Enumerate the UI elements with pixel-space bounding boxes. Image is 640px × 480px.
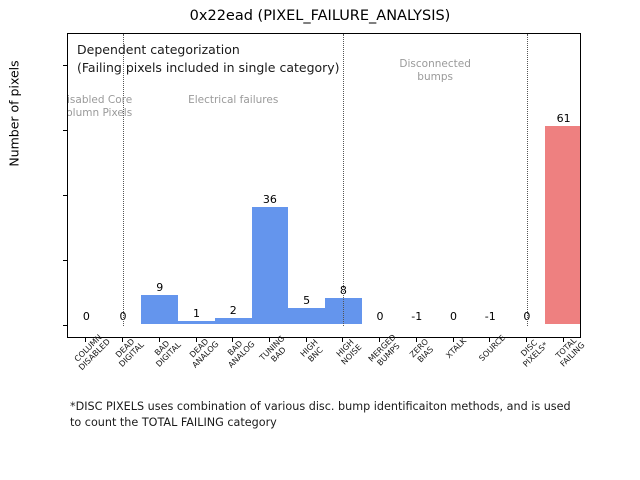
group-divider-line [527, 34, 528, 326]
x-tick-mark [196, 338, 197, 342]
x-tick-mark [122, 338, 123, 342]
x-tick-mark [489, 338, 490, 342]
x-tick-mark [159, 338, 160, 342]
annotations-layer: Dependent categorization (Failing pixels… [68, 34, 580, 337]
group-divider-line [343, 34, 344, 326]
group-annotation-label: Electrical failures [173, 94, 293, 107]
x-tick-mark [526, 338, 527, 342]
annotation-dependent-categorization: Dependent categorization (Failing pixels… [77, 41, 340, 77]
x-tick-mark [416, 338, 417, 342]
chart-figure: 0x22ead (PIXEL_FAILURE_ANALYSIS) Number … [0, 0, 640, 480]
group-annotation-label: Disconnected bumps [375, 58, 495, 84]
plot-area: 0091236580-10-1061 Dependent categorizat… [67, 33, 581, 338]
x-tick-mark [232, 338, 233, 342]
x-tick-mark [269, 338, 270, 342]
x-tick-mark [379, 338, 380, 342]
chart-footnote: *DISC PIXELS uses combination of various… [70, 399, 590, 431]
group-divider-line [123, 34, 124, 326]
x-tick-mark [563, 338, 564, 342]
x-tick-mark [306, 338, 307, 342]
x-tick-mark [453, 338, 454, 342]
x-tick-mark [85, 338, 86, 342]
x-tick-mark [342, 338, 343, 342]
group-annotation-label: Disabled Core Column Pixels [67, 94, 156, 120]
chart-title: 0x22ead (PIXEL_FAILURE_ANALYSIS) [0, 8, 640, 24]
y-axis-label: Number of pixels [7, 4, 22, 224]
